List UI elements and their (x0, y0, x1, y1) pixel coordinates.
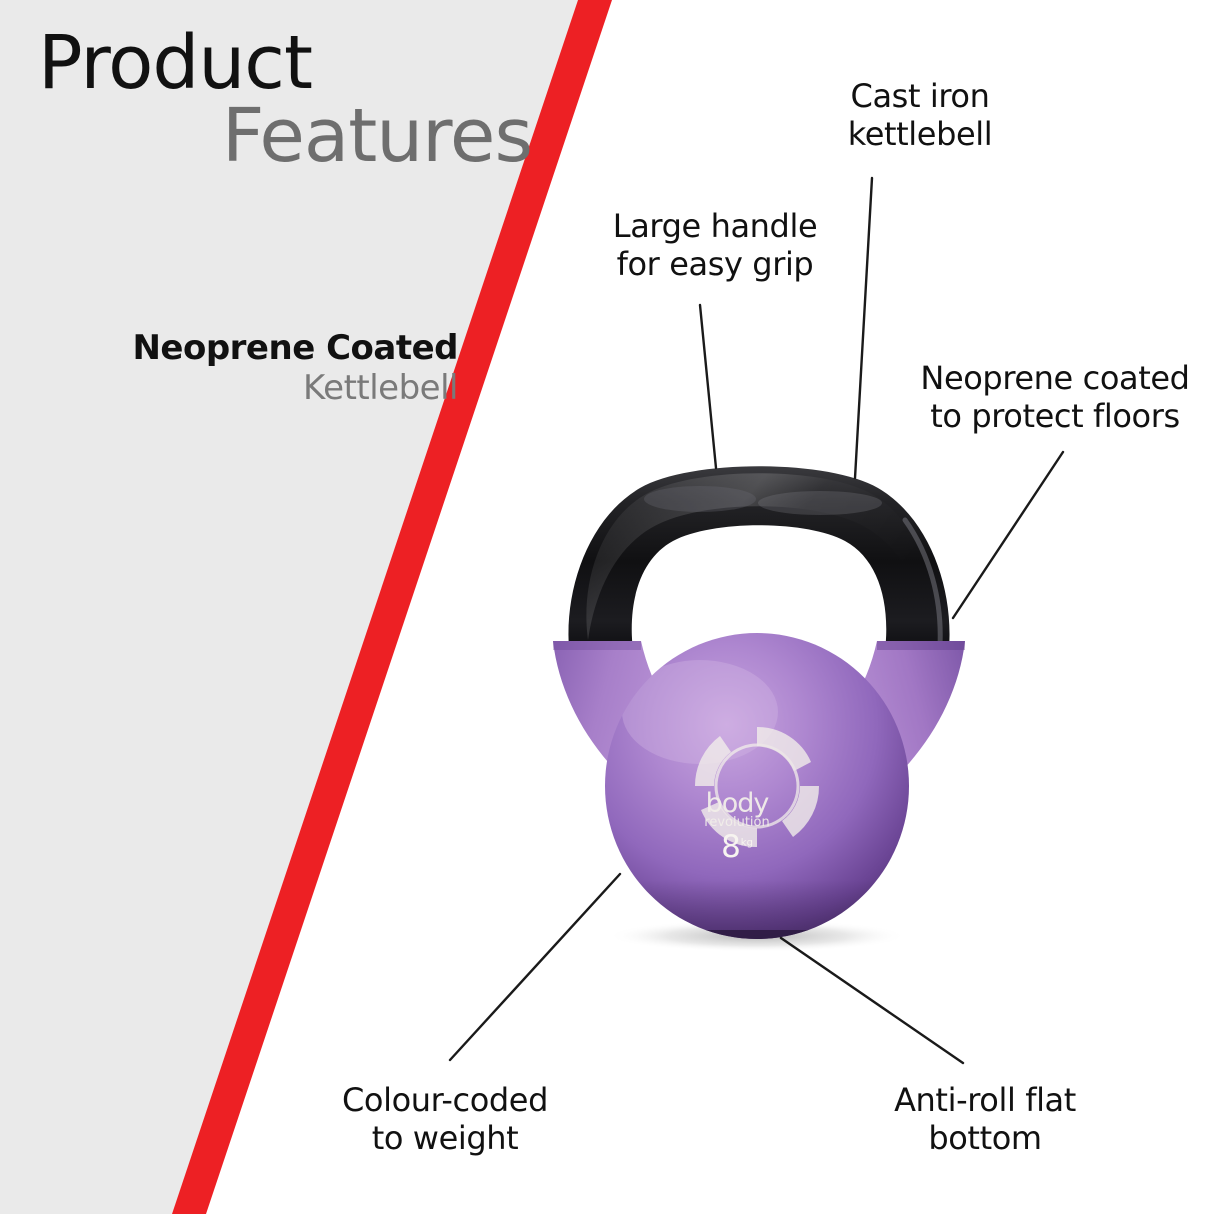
title-line-product: Product (38, 28, 538, 99)
subtitle-line-neoprene-coated: Neoprene Coated (38, 330, 458, 367)
product-subtitle: Neoprene Coated Kettlebell (38, 330, 458, 409)
callout-anti-roll: Anti-roll flat bottom (860, 1082, 1110, 1158)
callout-cast-iron: Cast iron kettlebell (800, 78, 1040, 154)
callout-large-handle: Large handle for easy grip (580, 208, 850, 284)
title-line-features: Features (38, 99, 538, 173)
callout-colour-coded: Colour-coded to weight (310, 1082, 580, 1158)
page-title: Product Features (38, 28, 538, 173)
callout-neoprene-floors: Neoprene coated to protect floors (900, 360, 1210, 436)
infographic-canvas: Product Features Neoprene Coated Kettleb… (0, 0, 1214, 1214)
subtitle-line-kettlebell: Kettlebell (38, 367, 458, 410)
